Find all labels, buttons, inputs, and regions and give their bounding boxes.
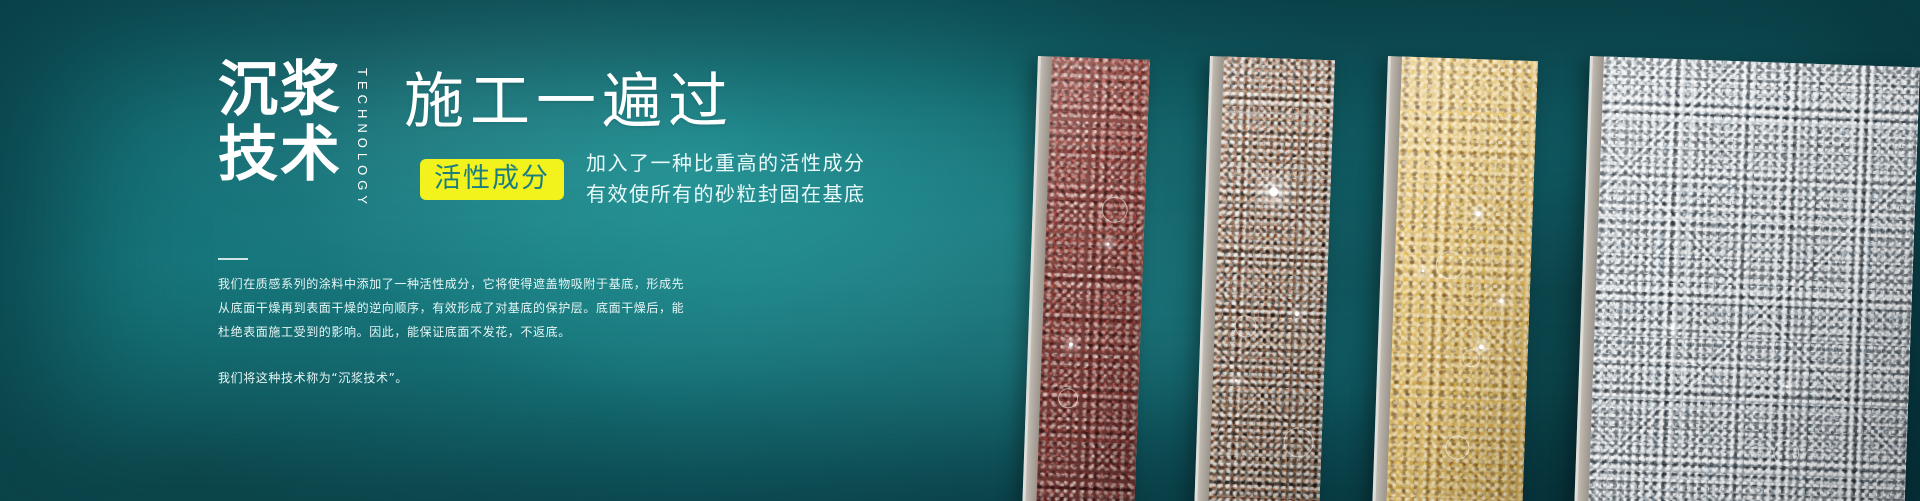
subheading-lines: 加入了一种比重高的活性成分 有效使所有的砂粒封固在基底 <box>586 148 866 210</box>
stone-panel-group <box>1020 0 1920 501</box>
grey-granite-panel <box>1574 56 1920 501</box>
brand-logo-lockup: 沉浆 技术 TECHNOLOGY <box>218 62 369 209</box>
logo-line-1: 沉浆 <box>218 62 342 119</box>
logo-line-2: 技术 <box>218 127 342 184</box>
subheading-line-1: 加入了一种比重高的活性成分 <box>586 148 866 179</box>
rose-granite-panel <box>1022 56 1150 501</box>
promo-banner: 沉浆 技术 TECHNOLOGY 施工一遍过 活性成分 加入了一种比重高的活性成… <box>0 0 1920 501</box>
logo-english-vertical-label: TECHNOLOGY <box>356 68 369 209</box>
subheading-line-2: 有效使所有的砂粒封固在基底 <box>586 179 866 210</box>
headline-title: 施工一遍过 <box>404 68 734 137</box>
panel-face-texture <box>1588 56 1920 501</box>
body-paragraph-2: 我们将这种技术称为“沉浆技术”。 <box>218 366 688 390</box>
section-divider-rule <box>218 258 248 260</box>
speckled-granite-panel <box>1194 56 1335 501</box>
body-paragraph-1: 我们在质感系列的涂料中添加了一种活性成分，它将使得遮盖物吸附于基底，形成先从底面… <box>218 272 688 344</box>
banner-content: 沉浆 技术 TECHNOLOGY 施工一遍过 活性成分 加入了一种比重高的活性成… <box>0 0 1100 501</box>
panel-face-texture <box>1208 56 1335 501</box>
subheading-row: 活性成分 加入了一种比重高的活性成分 有效使所有的砂粒封固在基底 <box>420 148 866 210</box>
body-copy: 我们在质感系列的涂料中添加了一种活性成分，它将使得遮盖物吸附于基底，形成先从底面… <box>218 272 688 390</box>
panel-face-texture <box>1386 56 1538 501</box>
panel-face-texture <box>1036 56 1150 501</box>
tan-sandstone-panel <box>1372 56 1538 501</box>
active-ingredient-badge: 活性成分 <box>420 159 564 200</box>
logo-chinese-text: 沉浆 技术 <box>218 62 342 184</box>
